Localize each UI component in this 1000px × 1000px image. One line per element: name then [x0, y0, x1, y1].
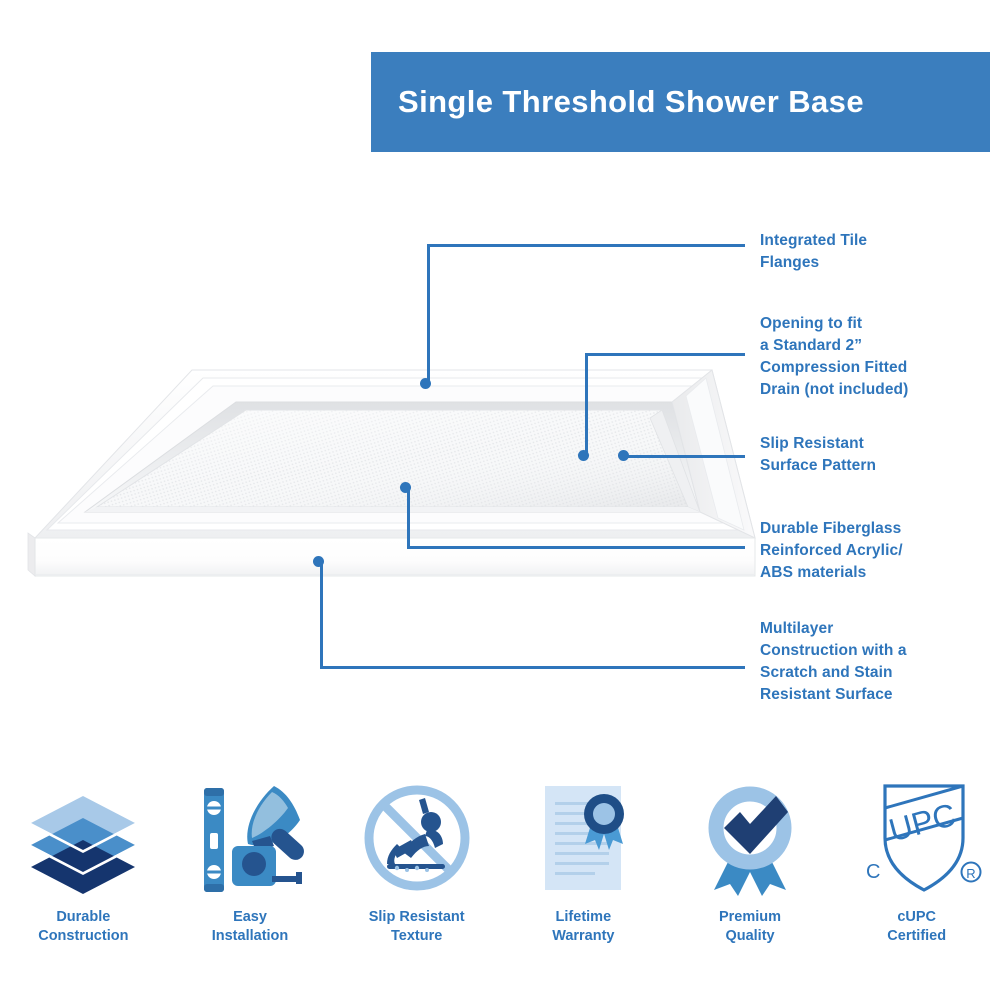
leader-line-slip-resistant-surface-pattern	[625, 455, 745, 458]
callout-line: ABS materials	[760, 562, 903, 584]
callout-line: Reinforced Acrylic/	[760, 540, 903, 562]
upc-shield-icon: UPC C R	[851, 775, 983, 900]
callout-drain-opening: Opening to fita Standard 2”Compression F…	[760, 313, 908, 401]
leader-stem-integrated-tile-flanges	[427, 244, 430, 385]
callout-line: a Standard 2”	[760, 335, 908, 357]
feature-label-line: Certified	[887, 927, 946, 946]
feature-label-line: Construction	[38, 927, 128, 946]
feature-label-line: Texture	[369, 927, 465, 946]
registered-mark: R	[961, 862, 980, 881]
callout-integrated-tile-flanges: Integrated TileFlanges	[760, 230, 867, 274]
feature-label-line: Easy	[212, 908, 289, 927]
callout-durable-fiberglass-materials: Durable FiberglassReinforced Acrylic/ABS…	[760, 518, 903, 584]
feature-label: Durable Construction	[38, 908, 128, 946]
feature-durable-construction[interactable]: Durable Construction	[0, 775, 167, 975]
certificate-rosette-icon	[523, 775, 643, 900]
feature-label-line: Premium	[719, 908, 781, 927]
leader-line-multilayer-construction	[320, 666, 745, 669]
leader-stem-drain-opening	[585, 353, 588, 457]
feature-easy-installation[interactable]: Easy Installation	[167, 775, 334, 975]
level-trowel-tools-icon	[190, 775, 310, 900]
callout-line: Integrated Tile	[760, 230, 867, 252]
callout-line: Compression Fitted	[760, 357, 908, 379]
leader-stem-durable-fiberglass-materials	[407, 489, 410, 548]
callout-dot-drain-opening	[578, 450, 589, 461]
feature-lifetime-warranty[interactable]: Lifetime Warranty	[500, 775, 667, 975]
callout-line: Resistant Surface	[760, 684, 907, 706]
feature-label: Easy Installation	[212, 908, 289, 946]
callout-slip-resistant-surface-pattern: Slip ResistantSurface Pattern	[760, 433, 876, 477]
no-slip-prohibition-icon	[357, 775, 477, 900]
feature-label-line: Quality	[719, 927, 781, 946]
shower-base-svg	[0, 330, 770, 600]
shower-base-illustration	[0, 330, 770, 600]
feature-slip-resistant-texture[interactable]: Slip Resistant Texture	[333, 775, 500, 975]
callout-line: Scratch and Stain	[760, 662, 907, 684]
product-infographic-page: Single Threshold Shower Base	[0, 0, 1000, 1000]
layers-stack-icon	[23, 775, 143, 900]
callout-line: Slip Resistant	[760, 433, 876, 455]
feature-premium-quality[interactable]: Premium Quality	[667, 775, 834, 975]
callout-line: Opening to fit	[760, 313, 908, 335]
svg-text:R: R	[966, 866, 975, 881]
callout-line: Construction with a	[760, 640, 907, 662]
page-title: Single Threshold Shower Base	[371, 84, 864, 120]
leader-line-durable-fiberglass-materials	[407, 546, 745, 549]
callout-line: Multilayer	[760, 618, 907, 640]
feature-label: Slip Resistant Texture	[369, 908, 465, 946]
callout-multilayer-construction: MultilayerConstruction with aScratch and…	[760, 618, 907, 706]
callout-dot-durable-fiberglass-materials	[400, 482, 411, 493]
checkmark-award-ribbon-icon	[690, 775, 810, 900]
feature-label-line: cUPC	[887, 908, 946, 927]
feature-label-line: Lifetime	[552, 908, 614, 927]
title-banner: Single Threshold Shower Base	[371, 52, 990, 152]
leader-stem-multilayer-construction	[320, 563, 323, 669]
feature-label: cUPC Certified	[887, 908, 946, 946]
leader-line-integrated-tile-flanges	[427, 244, 745, 247]
leader-line-drain-opening	[585, 353, 745, 356]
feature-label-line: Slip Resistant	[369, 908, 465, 927]
callout-line: Drain (not included)	[760, 379, 908, 401]
feature-label-line: Warranty	[552, 927, 614, 946]
callout-dot-integrated-tile-flanges	[420, 378, 431, 389]
feature-label: Lifetime Warranty	[552, 908, 614, 946]
callout-line: Durable Fiberglass	[760, 518, 903, 540]
feature-label-line: Installation	[212, 927, 289, 946]
feature-cupc-certified[interactable]: UPC C R cUPC Certified	[833, 775, 1000, 975]
callout-line: Flanges	[760, 252, 867, 274]
callout-dot-multilayer-construction	[313, 556, 324, 567]
upc-left-mark: C	[866, 861, 880, 883]
callout-dot-slip-resistant-surface-pattern	[618, 450, 629, 461]
feature-badges-row: Durable Construction	[0, 775, 1000, 975]
callout-line: Surface Pattern	[760, 455, 876, 477]
feature-label-line: Durable	[38, 908, 128, 927]
feature-label: Premium Quality	[719, 908, 781, 946]
